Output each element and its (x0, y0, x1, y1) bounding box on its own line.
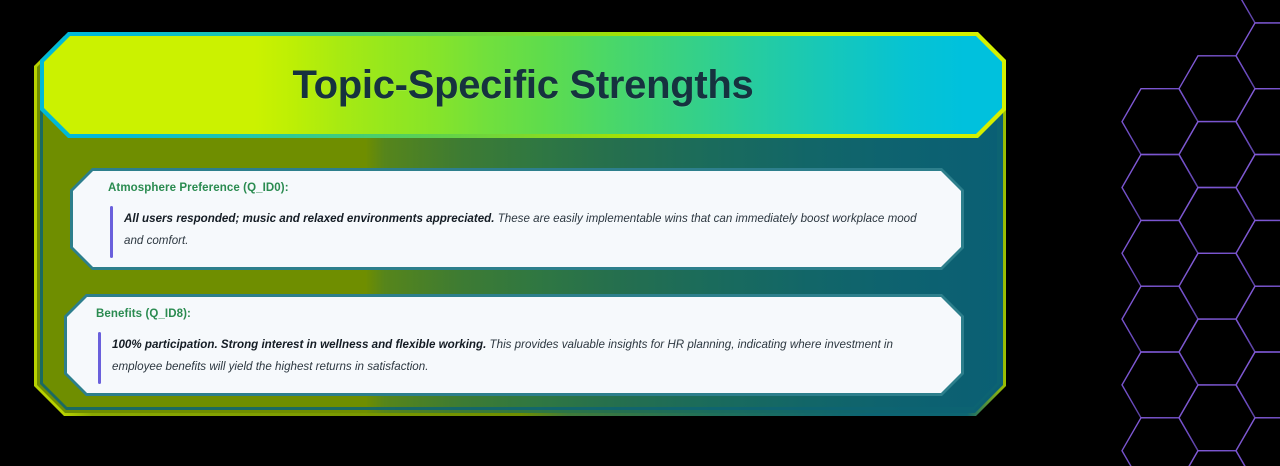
hexagon-cell (1236, 418, 1280, 466)
honeycomb-svg (1040, 0, 1280, 466)
insight-card-atmosphere[interactable]: Atmosphere Preference (Q_ID0): All users… (70, 168, 964, 270)
hexagon-cell (1236, 286, 1280, 352)
insight-card-body: 100% participation. Strong interest in w… (112, 334, 942, 378)
hexagon-cell (1236, 89, 1280, 155)
hexagon-honeycomb-decoration (1040, 0, 1280, 466)
hexagon-cell (1236, 155, 1280, 221)
hexagon-cell (1179, 188, 1255, 254)
insight-lead-text: 100% participation. Strong interest in w… (112, 338, 486, 351)
hexagon-cell (1179, 122, 1255, 188)
accent-bar (110, 206, 113, 258)
hexagon-cell (1236, 23, 1280, 89)
hexagon-cell (1122, 155, 1198, 221)
hexagon-cell (1122, 352, 1198, 418)
header-banner: Topic-Specific Strengths (40, 32, 1006, 138)
hexagon-cells (1122, 0, 1280, 466)
hexagon-cell (1236, 0, 1280, 23)
page-title: Topic-Specific Strengths (40, 32, 1006, 138)
hexagon-cell (1122, 89, 1198, 155)
insight-card-benefits[interactable]: Benefits (Q_ID8): 100% participation. St… (64, 294, 964, 396)
insight-card-heading: Benefits (Q_ID8): (96, 308, 191, 320)
hexagon-cell (1179, 319, 1255, 385)
hexagon-cell (1122, 418, 1198, 466)
insight-card-body: All users responded; music and relaxed e… (124, 208, 934, 252)
accent-bar (98, 332, 101, 384)
insight-card-heading: Atmosphere Preference (Q_ID0): (108, 182, 289, 194)
hexagon-cell (1179, 56, 1255, 122)
hexagon-cell (1179, 451, 1255, 466)
hexagon-cell (1122, 220, 1198, 286)
hexagon-cell (1179, 385, 1255, 451)
hexagon-cell (1236, 220, 1280, 286)
slide-canvas: Topic-Specific Strengths Atmosphere Pref… (0, 0, 1280, 466)
hexagon-cell (1236, 352, 1280, 418)
hexagon-cell (1122, 286, 1198, 352)
insight-lead-text: All users responded; music and relaxed e… (124, 212, 494, 225)
hexagon-cell (1179, 253, 1255, 319)
